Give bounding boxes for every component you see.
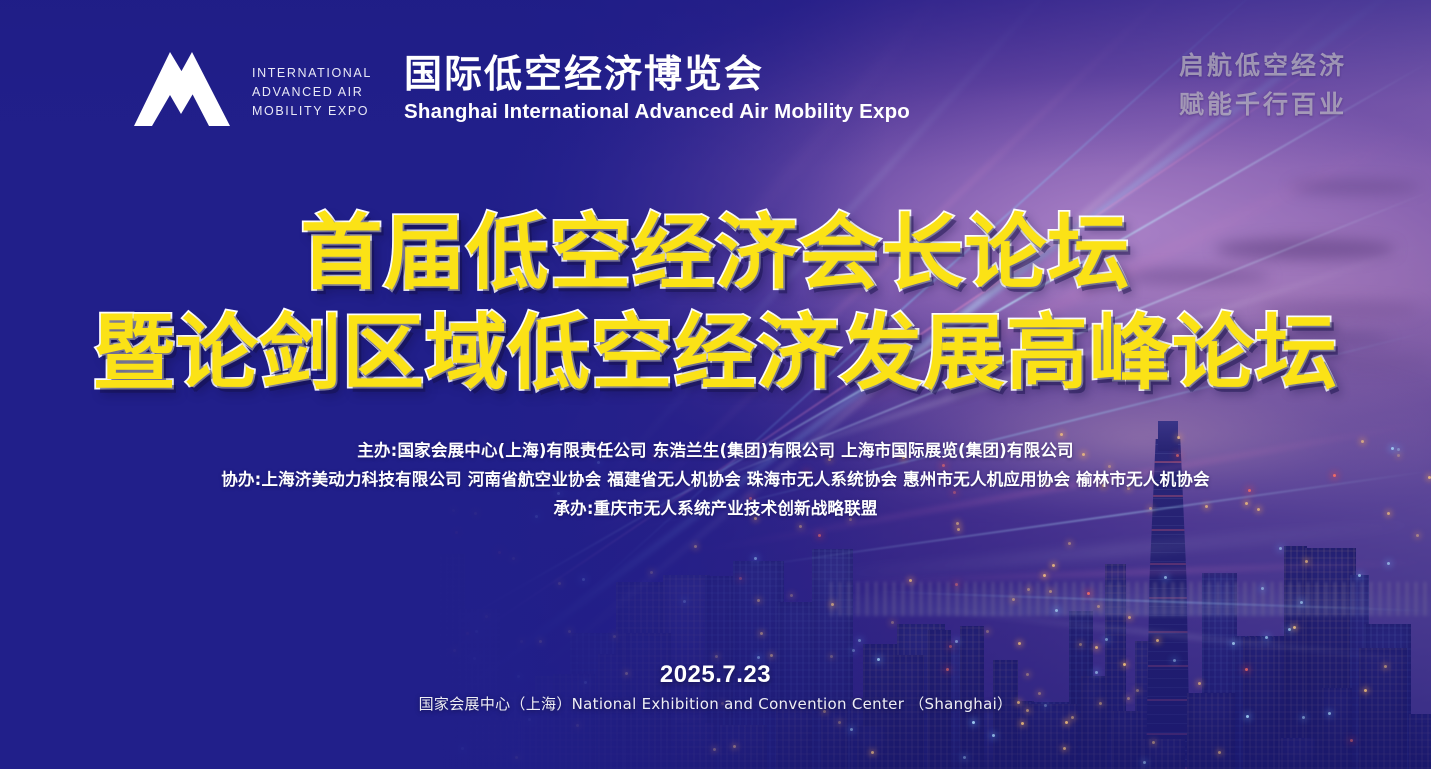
brand-lockup: INTERNATIONAL ADVANCED AIR MOBILITY EXPO [134, 48, 372, 136]
main-title-line-1: 首届低空经济会长论坛 [0, 206, 1431, 302]
event-venue: 国家会展中心（上海）National Exhibition and Conven… [0, 693, 1431, 715]
aam-chevron-logo-icon [134, 48, 238, 136]
expo-title-block: 国际低空经济博览会 Shanghai International Advance… [404, 52, 910, 126]
footer-block: 2025.7.23 国家会展中心（上海）National Exhibition … [0, 660, 1431, 715]
expo-name-cn: 国际低空经济博览会 [404, 52, 910, 96]
main-title-line-2: 暨论剑区域低空经济发展高峰论坛 [0, 306, 1431, 402]
logo-text-line-1: INTERNATIONAL [252, 64, 372, 83]
slogan-line-1: 启航低空经济 [1179, 46, 1347, 85]
logo-text-line-3: MOBILITY EXPO [252, 102, 372, 121]
organizer-cohost-line: 协办:上海济美动力科技有限公司 河南省航空业协会 福建省无人机协会 珠海市无人系… [0, 465, 1431, 494]
event-banner: INTERNATIONAL ADVANCED AIR MOBILITY EXPO… [0, 0, 1431, 769]
brand-logo-text: INTERNATIONAL ADVANCED AIR MOBILITY EXPO [252, 64, 372, 121]
corner-slogan: 启航低空经济 赋能千行百业 [1179, 46, 1347, 124]
organizer-undertaker-line: 承办:重庆市无人系统产业技术创新战略联盟 [0, 494, 1431, 523]
organizer-host-line: 主办:国家会展中心(上海)有限责任公司 东浩兰生(集团)有限公司 上海市国际展览… [0, 436, 1431, 465]
logo-text-line-2: ADVANCED AIR [252, 83, 372, 102]
main-title-block: 首届低空经济会长论坛 暨论剑区域低空经济发展高峰论坛 [0, 206, 1431, 402]
organizers-block: 主办:国家会展中心(上海)有限责任公司 东浩兰生(集团)有限公司 上海市国际展览… [0, 436, 1431, 523]
expo-name-en: Shanghai International Advanced Air Mobi… [404, 98, 910, 126]
event-date: 2025.7.23 [0, 660, 1431, 690]
slogan-line-2: 赋能千行百业 [1179, 85, 1347, 124]
